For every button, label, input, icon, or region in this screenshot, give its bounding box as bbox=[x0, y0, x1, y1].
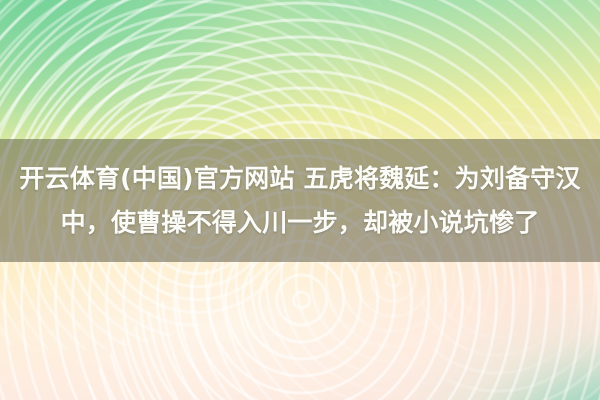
caption-headline: 开云体育(中国)官方网站 五虎将魏延：为刘备守汉中，使曹操不得入川一步，却被小说… bbox=[16, 157, 584, 245]
caption-overlay-band: 开云体育(中国)官方网站 五虎将魏延：为刘备守汉中，使曹操不得入川一步，却被小说… bbox=[0, 139, 600, 262]
promo-banner: 开云体育(中国)官方网站 五虎将魏延：为刘备守汉中，使曹操不得入川一步，却被小说… bbox=[0, 0, 600, 400]
